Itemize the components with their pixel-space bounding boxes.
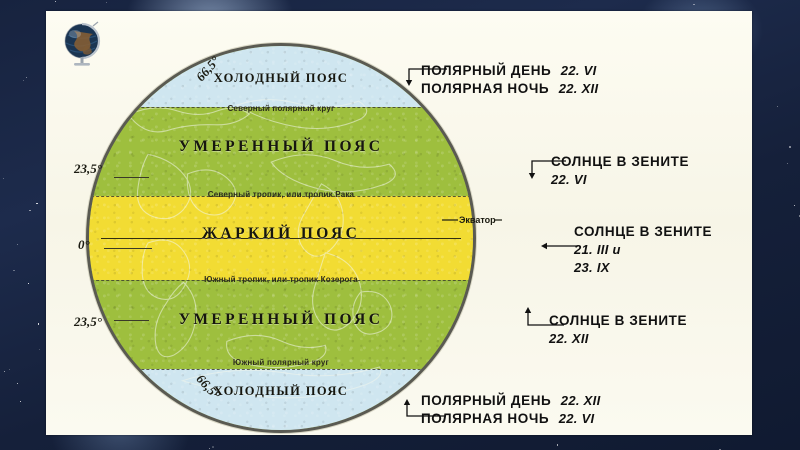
south-polar-line2-text: ПОЛЯРНАЯ НОЧЬ — [421, 411, 549, 426]
zone-label-south-polar: ХОЛОДНЫЙ ПОЯС — [89, 384, 473, 399]
line-label-south-polar-circle: Южный полярный круг — [89, 358, 473, 367]
slide-stage: ХОЛОДНЫЙ ПОЯС Северный полярный круг УМЕ… — [0, 0, 800, 450]
earth-circle: ХОЛОДНЫЙ ПОЯС Северный полярный круг УМЕ… — [86, 43, 476, 433]
degree-equator: 0° — [78, 237, 90, 253]
south-polar-line1-date: 22. XII — [561, 393, 601, 408]
north-polar-line2-date: 22. XII — [559, 81, 599, 96]
tropic-cancer-callout: СОЛНЦЕ В ЗЕНИТЕ 22. VI — [551, 153, 689, 189]
equator-callout: СОЛНЦЕ В ЗЕНИТЕ 21. III и 23. IX — [574, 223, 712, 277]
tropic-capricorn-line2-date: 22. XII — [549, 331, 589, 346]
earth-diagram: ХОЛОДНЫЙ ПОЯС Северный полярный круг УМЕ… — [86, 43, 476, 433]
equator-line1-text: СОЛНЦЕ В ЗЕНИТЕ — [574, 224, 712, 239]
tick-equator — [104, 248, 152, 249]
north-polar-line1-date: 22. VI — [561, 63, 597, 78]
equator-tag-leader — [442, 217, 502, 227]
tick-tropic-of-capricorn — [114, 320, 149, 321]
equator-line2-date: 21. III и — [574, 242, 621, 257]
zone-label-tropical: ЖАРКИЙ ПОЯС — [89, 225, 473, 243]
equator-line3-date: 23. IX — [574, 260, 610, 275]
degree-tropic-of-cancer: 23,5° — [74, 161, 102, 177]
tropic-cancer-line1-text: СОЛНЦЕ В ЗЕНИТЕ — [551, 154, 689, 169]
presentation-slide: ХОЛОДНЫЙ ПОЯС Северный полярный круг УМЕ… — [46, 11, 752, 435]
north-polar-callout: ПОЛЯРНЫЙ ДЕНЬ 22. VI ПОЛЯРНАЯ НОЧЬ 22. X… — [421, 62, 598, 98]
north-polar-line2-text: ПОЛЯРНАЯ НОЧЬ — [421, 81, 549, 96]
tropic-capricorn-callout: СОЛНЦЕ В ЗЕНИТЕ 22. XII — [549, 312, 687, 348]
degree-tropic-of-capricorn: 23,5° — [74, 314, 102, 330]
south-polar-callout: ПОЛЯРНЫЙ ДЕНЬ 22. XII ПОЛЯРНАЯ НОЧЬ 22. … — [421, 392, 600, 428]
tick-tropic-of-cancer — [114, 177, 149, 178]
tropic-cancer-line2-date: 22. VI — [551, 172, 587, 187]
tropic-capricorn-line1-text: СОЛНЦЕ В ЗЕНИТЕ — [549, 313, 687, 328]
zone-label-north-temperate: УМЕРЕННЫЙ ПОЯС — [89, 138, 473, 156]
south-polar-line2-date: 22. VI — [559, 411, 595, 426]
line-label-north-polar-circle: Северный полярный круг — [89, 104, 473, 113]
north-polar-line1-text: ПОЛЯРНЫЙ ДЕНЬ — [421, 63, 551, 78]
line-label-tropic-of-cancer: Северный тропик, или тропик Рака — [89, 190, 473, 199]
line-label-tropic-of-capricorn: Южный тропик, или тропик Козерога — [89, 275, 473, 284]
line-south-polar-circle — [86, 369, 476, 370]
south-polar-line1-text: ПОЛЯРНЫЙ ДЕНЬ — [421, 393, 551, 408]
